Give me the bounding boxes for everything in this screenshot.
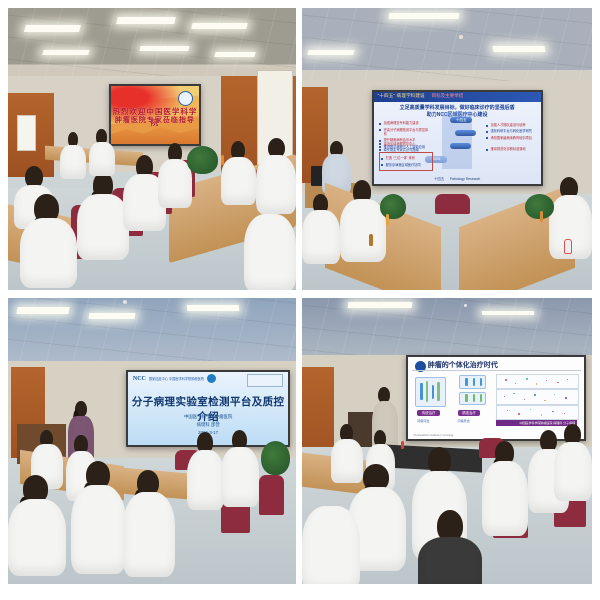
slide-footnote: Personalized medicine in oncology xyxy=(414,434,454,437)
label-traditional-therapy: 传统治疗 xyxy=(417,410,440,417)
photo-top-right[interactable]: “十四五” 病理学科建设 目标及主要举措 立足高质量学科发展目标，做好临床诊疗的… xyxy=(302,8,592,290)
ncc-logo: NCC xyxy=(133,376,146,382)
diagram-population-box xyxy=(415,377,445,407)
audience-member xyxy=(8,475,66,572)
ceiling-lamp xyxy=(481,311,534,315)
slide-bar-title: “十四五” 病理学科建设 xyxy=(378,93,425,99)
audience-member xyxy=(20,194,78,284)
potted-plant xyxy=(187,146,219,174)
slide-title-bar: “十四五” 病理学科建设 目标及主要举措 xyxy=(374,92,541,102)
bullet: 推动规范化诊断标准落地 xyxy=(486,147,536,151)
slide-bullets-boxed: 打造 “三位一体” 体系 服务京津冀区域医疗协同 xyxy=(379,152,433,171)
lab-coat xyxy=(302,506,360,585)
presenter xyxy=(60,132,86,177)
audience-member xyxy=(187,432,224,506)
roadmap-pill-mid xyxy=(455,130,475,136)
juice-bottle xyxy=(386,214,389,225)
lab-coat xyxy=(244,214,296,290)
banner-background: 热烈欢迎中国医学科学院 肿瘤医院专家莅临指导 xyxy=(111,86,199,144)
slide-surface: “十四五” 病理学科建设 目标及主要举措 立足高质量学科发展目标，做好临床诊疗的… xyxy=(374,92,541,184)
lab-coat xyxy=(158,159,193,207)
diagram-subgroup-box-b xyxy=(459,392,486,405)
audience-member xyxy=(256,138,296,211)
ceiling-lamp xyxy=(24,25,81,32)
roadmap-pill-top: 十四五 xyxy=(450,117,472,123)
ceiling-lamp xyxy=(186,305,238,311)
slide-logo-row: NCC 国家癌症中心 中国医学科学院肿瘤医院 xyxy=(133,374,223,383)
projection-screen[interactable]: “十四五” 病理学科建设 目标及主要举措 立足高质量学科发展目标，做好临床诊疗的… xyxy=(372,90,543,186)
audience-member xyxy=(221,141,256,203)
audience-member xyxy=(244,205,296,290)
presenter xyxy=(89,129,115,174)
smoke-detector-icon xyxy=(123,300,127,304)
audience-member xyxy=(77,172,129,257)
label-precision-therapy: 精准治疗 xyxy=(458,410,481,417)
bullet: 承担国家级继续教育培训项目 xyxy=(486,136,536,140)
chart-panel-bottom xyxy=(496,405,579,420)
slide-title: 肿瘤的个体化治疗时代 xyxy=(428,360,498,370)
lab-coat xyxy=(554,442,592,501)
ceiling-lamp xyxy=(348,302,413,308)
hospital-emblem-icon xyxy=(207,374,216,383)
audience-member xyxy=(418,510,482,584)
audience-member xyxy=(302,194,340,262)
photo-bottom-right[interactable]: 肿瘤的个体化治疗时代 xyxy=(302,298,592,584)
lab-coat xyxy=(221,157,256,205)
lab-coat xyxy=(89,142,115,176)
roadmap-pill-low xyxy=(450,143,470,149)
banner-line-2: 肿瘤医院专家莅临指导 xyxy=(111,115,199,125)
marker-pen xyxy=(401,441,404,449)
dark-coat xyxy=(418,537,482,584)
lab-coat xyxy=(77,194,129,260)
ceiling-lamp xyxy=(16,307,69,314)
bullet: 加强病理亚专科能力建设 xyxy=(379,121,429,125)
lab-coat xyxy=(8,499,66,577)
led-banner-screen[interactable]: 热烈欢迎中国医学科学院 肿瘤医院专家莅临指导 xyxy=(109,84,201,146)
audience-member xyxy=(71,461,126,570)
bullet: 加强人才梯队建设与培养 xyxy=(486,123,536,127)
chart-panel-middle xyxy=(496,389,579,405)
audience-member xyxy=(554,424,592,498)
slide-subtitle-2: 病理科 邵营 xyxy=(128,422,288,428)
audience-member xyxy=(158,143,193,205)
bullet: 建设区域病理质控中心 xyxy=(379,142,429,146)
lab-coat xyxy=(187,450,224,509)
audience-member xyxy=(482,441,528,533)
chair xyxy=(259,475,285,515)
chair xyxy=(435,194,470,214)
hospital-seal-icon xyxy=(178,91,193,106)
wall-poster xyxy=(17,115,36,151)
slide-headline-1: 立足高质量学科发展目标，做好临床诊疗的坚强后盾 xyxy=(374,104,541,111)
slide-bullets-right-lower: 推动规范化诊断标准落地 xyxy=(486,145,536,153)
ceiling-lamp xyxy=(42,50,90,55)
ceiling-lamp xyxy=(215,52,257,57)
audience-member xyxy=(340,180,386,259)
lab-coat xyxy=(71,485,126,574)
slide-legend: 十四五 Pathology Research xyxy=(374,176,541,181)
tea-bottle xyxy=(369,234,373,246)
lab-coat xyxy=(123,492,175,576)
photo-top-left[interactable]: 热烈欢迎中国医学科学院 肿瘤医院专家莅临指导 xyxy=(8,8,296,290)
bullet: 服务京津冀区域医疗协同 xyxy=(381,163,431,167)
ceiling-lamp xyxy=(117,17,176,24)
caption-right: 同病异治 xyxy=(458,419,470,423)
bullet: 完善分子病理检测平台与质控体系 xyxy=(379,128,429,137)
slide-bar-accent: 目标及主要举措 xyxy=(432,93,464,99)
lab-coat xyxy=(20,218,78,288)
bullet: 强化科研平台与转化医学研究 xyxy=(486,129,536,133)
lab-coat xyxy=(221,447,258,506)
water-bottle xyxy=(564,239,572,254)
lab-coat xyxy=(60,145,86,179)
beverage-bottle xyxy=(221,155,224,165)
photo-bottom-left[interactable]: NCC 国家癌症中心 中国医学科学院肿瘤医院 分子病理实验室检测平台及质控介绍 … xyxy=(8,298,296,584)
ceiling-lamp xyxy=(192,23,248,29)
photo-collage: 热烈欢迎中国医学科学院 肿瘤医院专家莅临指导 xyxy=(0,0,600,600)
audience-member xyxy=(221,430,258,504)
ceiling-lamp xyxy=(307,50,355,55)
ncc-logo-subtitle: 国家癌症中心 中国医学科学院肿瘤医院 xyxy=(149,376,204,381)
potted-plant xyxy=(380,194,406,219)
audience-member xyxy=(302,498,360,584)
lab-coat xyxy=(482,461,528,536)
slide-subtitle-1: 中国医学科学院肿瘤医院 xyxy=(128,414,288,420)
lab-coat xyxy=(340,199,386,262)
bullet: 打造 “三位一体” 体系 xyxy=(381,156,431,160)
caption-left: 同病同治 xyxy=(417,419,429,423)
slide-divider xyxy=(412,370,581,371)
legend-left: 十四五 xyxy=(434,177,444,181)
slide-bullets-right: 加强人才梯队建设与培养 强化科研平台与转化医学研究 承担国家级继续教育培训项目 xyxy=(486,121,536,142)
slide-corner-badge xyxy=(247,374,283,387)
ceiling-lamp xyxy=(88,313,135,319)
diagram-subgroup-box-a xyxy=(459,375,486,388)
smoke-detector-icon xyxy=(459,35,463,39)
juice-bottle xyxy=(540,211,543,222)
ceiling-lamp xyxy=(140,46,190,51)
ceiling-lamp xyxy=(389,13,459,19)
chart-panel-top xyxy=(496,374,579,389)
legend-right: Pathology Research xyxy=(450,177,481,181)
ceiling-lamp xyxy=(493,46,546,52)
audience-member xyxy=(123,470,175,573)
potted-plant xyxy=(261,441,290,475)
lab-coat xyxy=(302,210,340,264)
